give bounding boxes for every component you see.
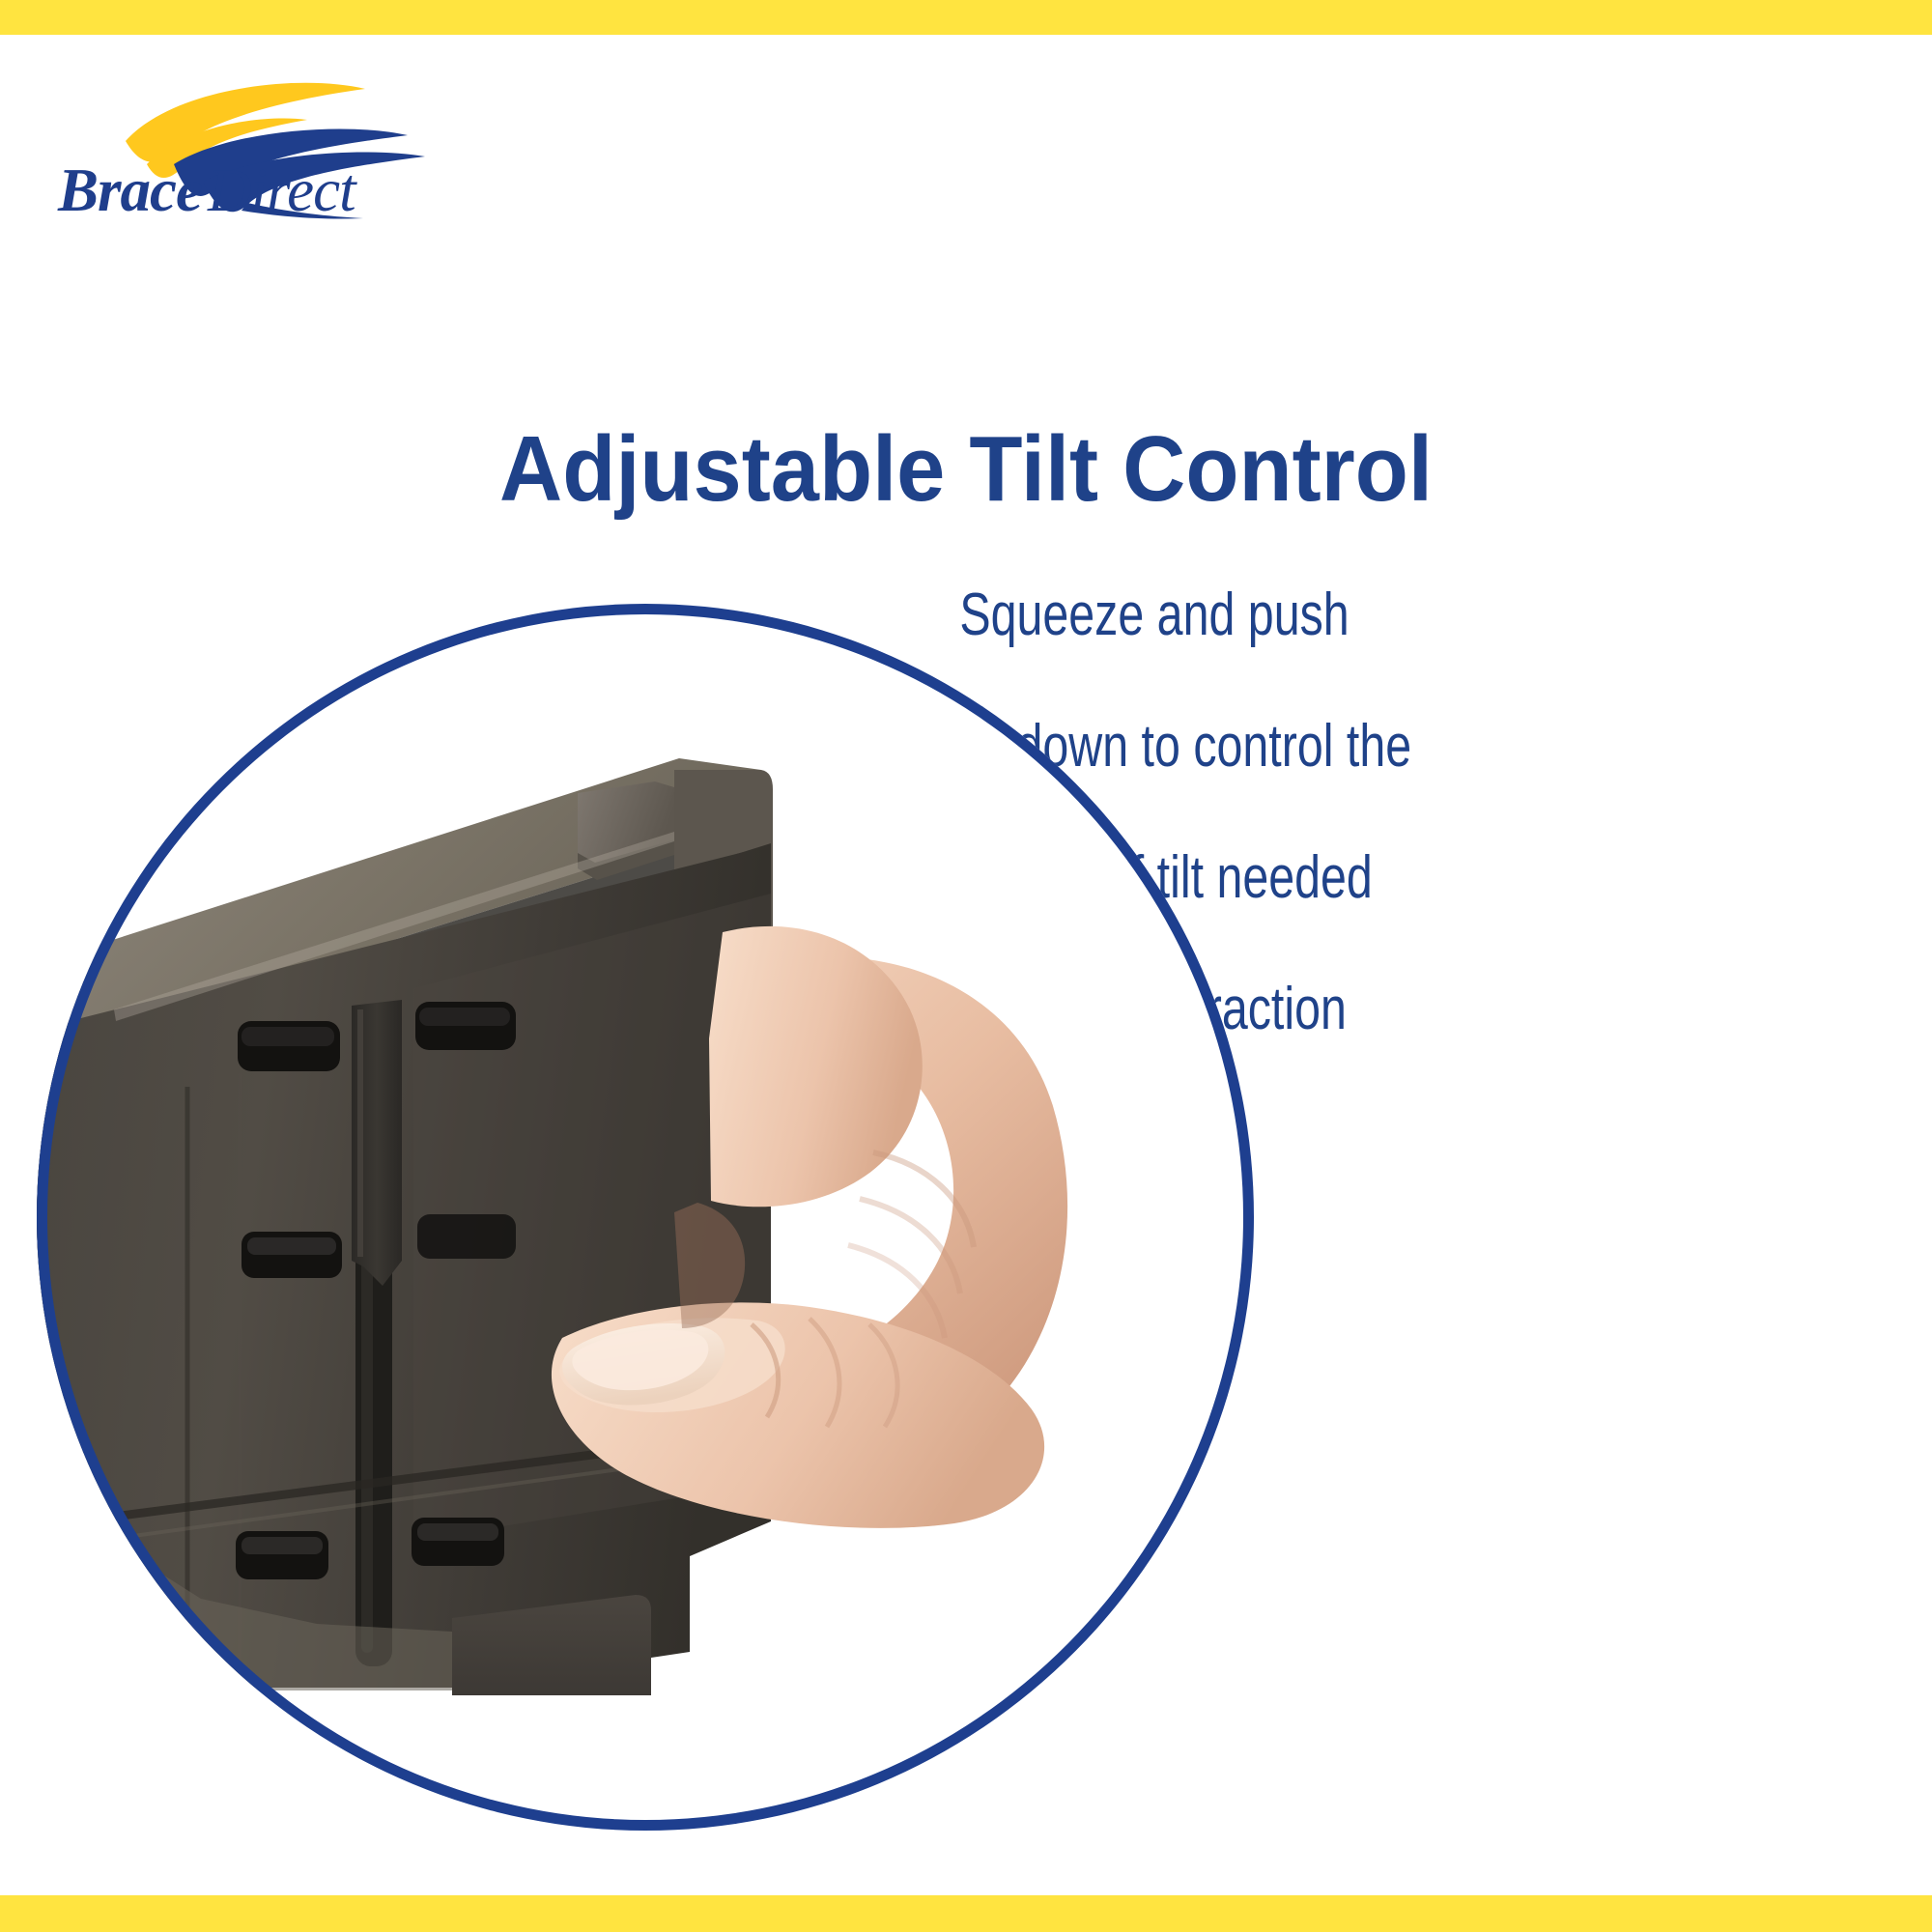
product-photo-stage: [37, 604, 1254, 1831]
brand-word-primary: Brace: [58, 156, 202, 224]
hand-illustration: [491, 923, 1090, 1657]
page-title: Adjustable Tilt Control: [58, 421, 1874, 519]
poster-canvas: BraceDirect Adjustable Tilt Control Sque…: [0, 0, 1932, 1932]
product-photo-clip: [37, 604, 1254, 1831]
top-yellow-band: [0, 0, 1932, 35]
brand-wordmark: BraceDirect: [58, 160, 464, 221]
product-photo: [37, 604, 1254, 1831]
brand-word-secondary: Direct: [208, 156, 355, 224]
brand-logo: BraceDirect: [58, 75, 464, 220]
bottom-yellow-band: [0, 1895, 1932, 1932]
